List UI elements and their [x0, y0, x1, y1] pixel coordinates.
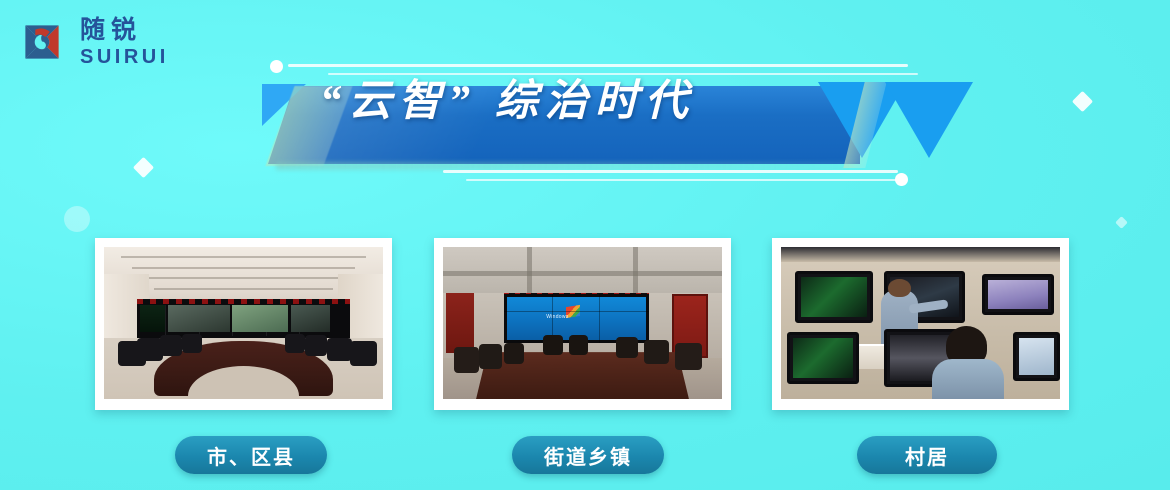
decor-bottom-line-2 [466, 179, 901, 181]
brand-logo: 随锐 SUIRUI [14, 14, 169, 70]
card-village-residence[interactable]: 村居 [772, 238, 1069, 410]
decor-top-dot [270, 60, 283, 73]
decor-triangle-down-2-icon [885, 82, 973, 158]
suirui-pinwheel-logo-icon [14, 14, 70, 70]
street-township-meeting-room-photo: Windows [443, 247, 722, 399]
decor-diamond-small [1115, 216, 1128, 229]
decor-soft-dot-a [64, 206, 90, 232]
card-label-text: 街道乡镇 [544, 441, 632, 470]
brand-name-cn: 随锐 [80, 18, 169, 43]
photo-frame [772, 238, 1069, 410]
brand-logo-text: 随锐 SUIRUI [80, 18, 169, 67]
banner-drop-shadow [276, 162, 846, 170]
card-label-village-residence[interactable]: 村居 [857, 436, 997, 474]
card-city-district[interactable]: 市、区县 [95, 238, 392, 410]
card-street-township[interactable]: Windows 街道乡镇 [434, 238, 731, 410]
banner-title-text: “云智” 综治时代 [320, 58, 840, 136]
photo-frame [95, 238, 392, 410]
decor-diamond-right [1072, 91, 1093, 112]
brand-name-en: SUIRUI [80, 47, 169, 67]
card-label-text: 市、区县 [207, 441, 295, 470]
card-label-text: 村居 [905, 441, 949, 470]
village-residence-monitoring-photo [781, 247, 1060, 399]
card-label-street-township[interactable]: 街道乡镇 [512, 436, 664, 474]
decor-bottom-dot [895, 173, 908, 186]
card-row: 市、区县 Windows [0, 238, 1170, 478]
card-label-city-district[interactable]: 市、区县 [175, 436, 327, 474]
decor-bottom-line-1 [443, 170, 898, 173]
page-background: 随锐 SUIRUI “云智” 综治时代 [0, 0, 1170, 490]
title-banner-zone: “云智” 综治时代 [258, 58, 948, 188]
decor-diamond-left [133, 157, 154, 178]
photo-frame: Windows [434, 238, 731, 410]
city-district-command-center-photo [104, 247, 383, 399]
